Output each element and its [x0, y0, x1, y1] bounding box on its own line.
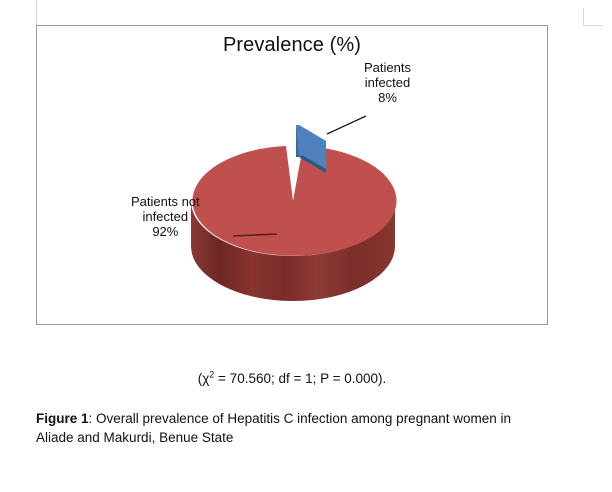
data-label-not-infected-line1: Patients not: [131, 194, 200, 209]
data-label-infected-line2: infected: [364, 75, 411, 90]
pie-slice-not-infected[interactable]: [191, 146, 397, 301]
figure-caption-separator: :: [89, 411, 97, 426]
figure-caption: Figure 1: Overall prevalence of Hepatiti…: [36, 409, 546, 447]
chi-square-statistics: (χ2 = 70.560; df = 1; P = 0.000).: [36, 371, 548, 386]
pie-chart-plot-area[interactable]: Patients infected 8% Patients not infect…: [37, 26, 549, 326]
data-label-infected-line1: Patients: [364, 60, 411, 75]
stats-body: = 70.560; df = 1; P = 0.000).: [214, 371, 386, 386]
figure-caption-label: Figure 1: [36, 411, 89, 426]
data-label-infected: Patients infected 8%: [364, 60, 411, 105]
page-margin-guide-top-right-vertical: [583, 8, 584, 26]
figure-caption-text: Overall prevalence of Hepatitis C infect…: [36, 411, 511, 445]
data-label-infected-percent: 8%: [364, 90, 411, 105]
data-label-not-infected: Patients not infected 92%: [131, 194, 200, 239]
data-label-not-infected-line2: infected: [131, 209, 200, 224]
chart-frame[interactable]: Prevalence (%): [36, 25, 548, 325]
page-margin-guide-top-right-horizontal: [583, 25, 603, 26]
pie-chart-graphic[interactable]: [37, 26, 549, 326]
leader-line-infected: [327, 116, 366, 134]
page-margin-guide-top-left: [36, 0, 37, 26]
pie-slice-not-infected-top: [193, 146, 397, 256]
data-label-not-infected-percent: 92%: [131, 224, 200, 239]
